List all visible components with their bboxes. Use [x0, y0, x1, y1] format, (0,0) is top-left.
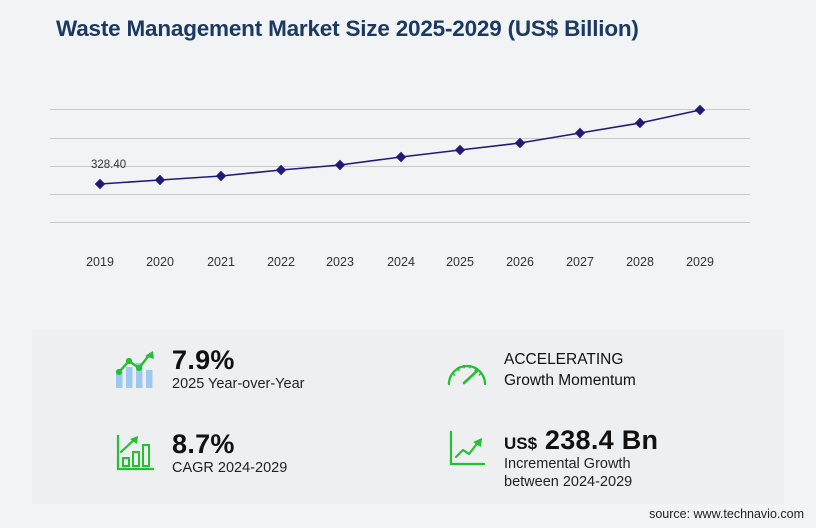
- kpi-caption: Growth Momentum: [504, 371, 636, 392]
- x-axis-tick-label: 2020: [146, 255, 174, 269]
- kpi-caption-line2: between 2024-2029: [504, 473, 658, 491]
- kpi-caption-line1: Incremental Growth: [504, 455, 658, 473]
- kpi-growth-momentum: ACCELERATING Growth Momentum: [444, 350, 636, 396]
- x-axis-tick-label: 2024: [387, 255, 415, 269]
- x-axis-tick-label: 2022: [267, 255, 295, 269]
- data-point-marker: [216, 171, 226, 181]
- x-axis-tick-label: 2026: [506, 255, 534, 269]
- infographic-canvas: Waste Management Market Size 2025-2029 (…: [0, 0, 816, 528]
- line-chart: 328.40 201920202021202220232024202520262…: [0, 60, 816, 290]
- x-axis-tick-label: 2025: [446, 255, 474, 269]
- kpi-panel: 7.9% 2025 Year-over-Year ACCELERAT: [32, 330, 784, 504]
- page-title: Waste Management Market Size 2025-2029 (…: [56, 16, 639, 42]
- kpi-amount: 238.4 Bn: [545, 425, 658, 455]
- data-point-marker: [396, 152, 406, 162]
- x-axis-tick-label: 2029: [686, 255, 714, 269]
- data-point-marker: [95, 179, 105, 189]
- bar-line-growth-icon: [112, 346, 158, 392]
- kpi-value: 8.7%: [172, 430, 287, 459]
- x-axis-tick-label: 2028: [626, 255, 654, 269]
- x-axis-tick-label: 2023: [326, 255, 354, 269]
- data-point-marker: [155, 175, 165, 185]
- data-point-marker: [455, 145, 465, 155]
- kpi-unit: US$: [504, 434, 537, 453]
- kpi-value: 7.9%: [172, 346, 304, 375]
- kpi-caption: 2025 Year-over-Year: [172, 375, 304, 393]
- data-point-marker: [575, 128, 585, 138]
- kpi-cagr: 8.7% CAGR 2024-2029: [112, 430, 287, 477]
- source-note: source: www.technavio.com: [649, 507, 804, 521]
- speedometer-icon: [444, 350, 490, 396]
- x-axis-labels: 2019202020212022202320242025202620272028…: [50, 255, 750, 289]
- kpi-incremental-growth: US$ 238.4 Bn Incremental Growth between …: [444, 426, 658, 491]
- x-axis-tick-label: 2019: [86, 255, 114, 269]
- data-point-marker: [335, 160, 345, 170]
- kpi-value: US$ 238.4 Bn: [504, 426, 658, 455]
- data-point-label: 328.40: [91, 159, 126, 171]
- kpi-headline: ACCELERATING: [504, 350, 636, 371]
- data-point-marker: [635, 118, 645, 128]
- data-point-marker: [276, 165, 286, 175]
- x-axis-tick-label: 2021: [207, 255, 235, 269]
- bar-chart-arrow-icon: [112, 430, 158, 476]
- data-point-marker: [695, 105, 705, 115]
- x-axis-tick-label: 2027: [566, 255, 594, 269]
- line-chart-arrow-icon: [444, 426, 490, 472]
- kpi-year-over-year: 7.9% 2025 Year-over-Year: [112, 346, 304, 393]
- data-point-marker: [515, 138, 525, 148]
- kpi-caption: CAGR 2024-2029: [172, 459, 287, 477]
